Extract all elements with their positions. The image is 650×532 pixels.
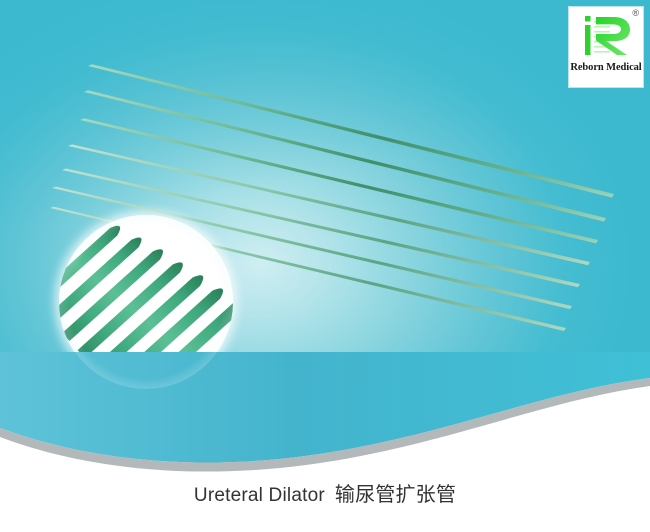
ir-monogram-icon: ®: [570, 7, 642, 63]
dilator-rod: [84, 90, 606, 221]
registered-trademark-icon: ®: [632, 9, 639, 18]
caption-chinese: 输尿管扩张管: [335, 484, 456, 506]
brand-name: Reborn Medical: [570, 62, 641, 73]
brand-logo: ® Reborn Medical: [568, 6, 644, 88]
dilator-rod: [88, 64, 614, 197]
product-caption: Ureteral Dilator输尿管扩张管: [0, 478, 650, 507]
caption-english: Ureteral Dilator: [194, 485, 325, 506]
product-image: ® Reborn Medical Ureteral Dilator输尿管扩张管: [0, 0, 650, 532]
